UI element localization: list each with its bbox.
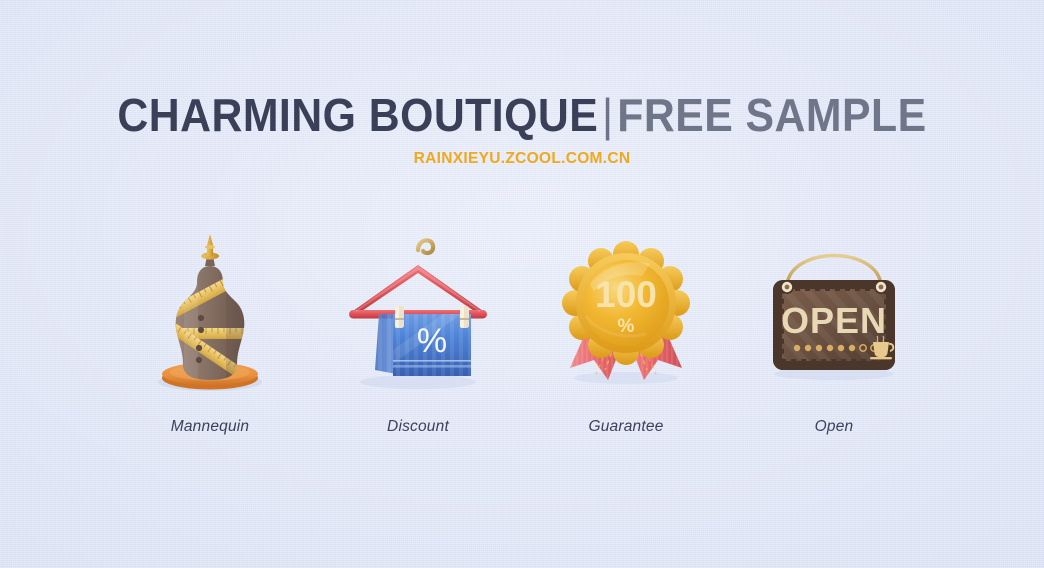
open-sign-text: OPEN [781, 300, 887, 341]
icon-row: Mannequin [0, 232, 1044, 436]
icon-item-guarantee[interactable]: 100 % Guarantee [522, 232, 730, 436]
hanger-discount-icon: % [314, 232, 522, 392]
title-separator: | [598, 89, 617, 141]
mannequin-icon [106, 232, 314, 392]
badge-unit-text: % [618, 316, 635, 337]
title-alt: FREE SAMPLE [617, 89, 926, 141]
poster-stage: CHARMING BOUTIQUE|FREE SAMPLE RAINXIEYU.… [0, 0, 1044, 568]
icon-label-mannequin: Mannequin [171, 418, 250, 436]
icon-label-discount: Discount [387, 418, 449, 436]
page-title: CHARMING BOUTIQUE|FREE SAMPLE [37, 92, 1008, 138]
icon-label-guarantee: Guarantee [588, 418, 663, 436]
title-main: CHARMING BOUTIQUE [117, 89, 598, 141]
svg-text:%: % [417, 322, 447, 360]
badge-number-text: 100 [595, 274, 657, 315]
open-sign-icon: OPEN [730, 232, 938, 392]
icon-item-discount[interactable]: % Discount [314, 232, 522, 436]
icon-item-mannequin[interactable]: Mannequin [106, 232, 314, 436]
header: CHARMING BOUTIQUE|FREE SAMPLE RAINXIEYU.… [0, 92, 1044, 168]
subtitle-url: RAINXIEYU.ZCOOL.COM.CN [0, 150, 1044, 168]
rosette-badge-icon: 100 % [522, 232, 730, 392]
icon-label-open: Open [815, 418, 854, 436]
icon-item-open[interactable]: OPEN [730, 232, 938, 436]
